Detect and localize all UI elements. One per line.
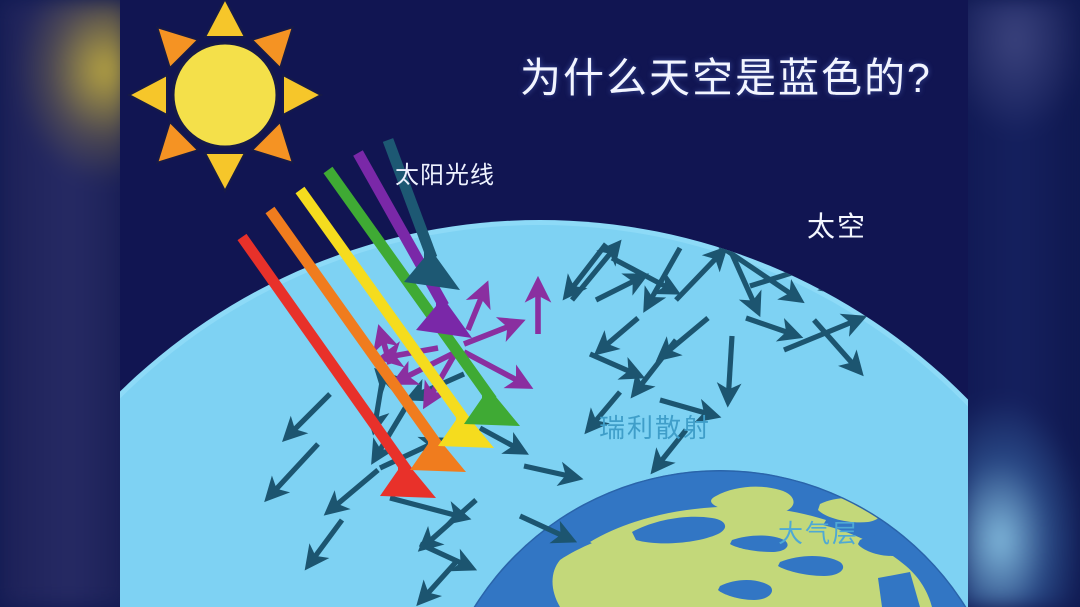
background-bleed-right	[960, 0, 1080, 607]
sun-core	[173, 43, 277, 147]
sun	[129, 0, 321, 191]
background-bleed-left	[0, 0, 130, 607]
diagram-frame: 为什么天空是蓝色的? 太阳光线 太空 瑞利散射 大气层	[120, 0, 968, 607]
sky-scattering-diagram	[120, 0, 968, 607]
illustration-stage: 为什么天空是蓝色的? 太阳光线 太空 瑞利散射 大气层	[0, 0, 1080, 607]
